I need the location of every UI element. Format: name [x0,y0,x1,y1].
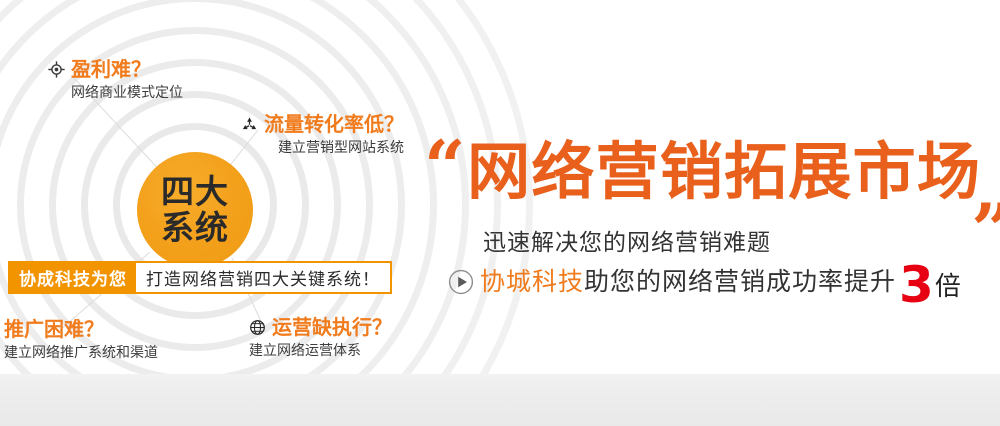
recycle-icon [241,116,258,133]
feature-promotion-subtitle: 建立网络推广系统和渠道 [4,343,158,363]
slogan-band-message: 打造网络营销四大关键系统！ [136,263,390,292]
feature-traffic: 流量转化率低？ 建立营销型网站系统 [241,113,404,158]
badge-line-1: 四大 [161,174,229,210]
feature-profit-subtitle: 网络商业模式定位 [71,83,183,103]
target-icon [48,61,65,78]
subline-brand: 协城科技 [480,267,584,297]
globe-icon [249,319,266,336]
feature-traffic-title: 流量转化率低？ [264,113,404,135]
four-systems-badge: 四大 系统 [137,152,253,268]
feature-operations: 运营缺执行？ 建立网络运营体系 [249,316,392,361]
quote-open-mark: “ [424,141,465,193]
slogan-band: 协成科技为您 打造网络营销四大关键系统！ [8,261,392,294]
feature-operations-title: 运营缺执行？ [272,316,392,338]
feature-traffic-subtitle: 建立营销型网站系统 [241,138,404,158]
feature-operations-subtitle: 建立网络运营体系 [249,341,392,361]
page-title: 网络营销拓展市场 [467,137,981,207]
feature-operations-head: 运营缺执行？ [249,316,392,338]
slogan-band-brand: 协成科技为您 [10,263,136,292]
feature-promotion-title: 推广困难？ [4,318,104,340]
feature-promotion-head: 推广困难？ [4,318,158,340]
marketing-banner: 四大 系统 盈利难？ 网络商业模式定位 [0,0,1000,426]
play-circle-icon [448,269,474,295]
feature-profit-title: 盈利难？ [71,58,151,80]
badge-line-2: 系统 [161,210,229,246]
feature-promotion: 推广困难？ 建立网络推广系统和渠道 [4,318,158,363]
feature-profit-head: 盈利难？ [48,58,183,80]
headline-block: “ 网络营销拓展市场 „ [424,137,1000,207]
bottom-gradient-band [0,374,1000,426]
subline-secondary: 协城科技 助您的网络营销成功率提升 3 倍 [448,261,961,303]
feature-profit: 盈利难？ 网络商业模式定位 [48,58,183,103]
subline-primary: 迅速解决您的网络营销难题 [483,229,771,257]
multiplier-unit: 倍 [935,272,961,302]
feature-traffic-head: 流量转化率低？ [241,113,404,135]
subline-rest: 助您的网络营销成功率提升 [584,267,896,297]
multiplier-number: 3 [899,264,934,306]
